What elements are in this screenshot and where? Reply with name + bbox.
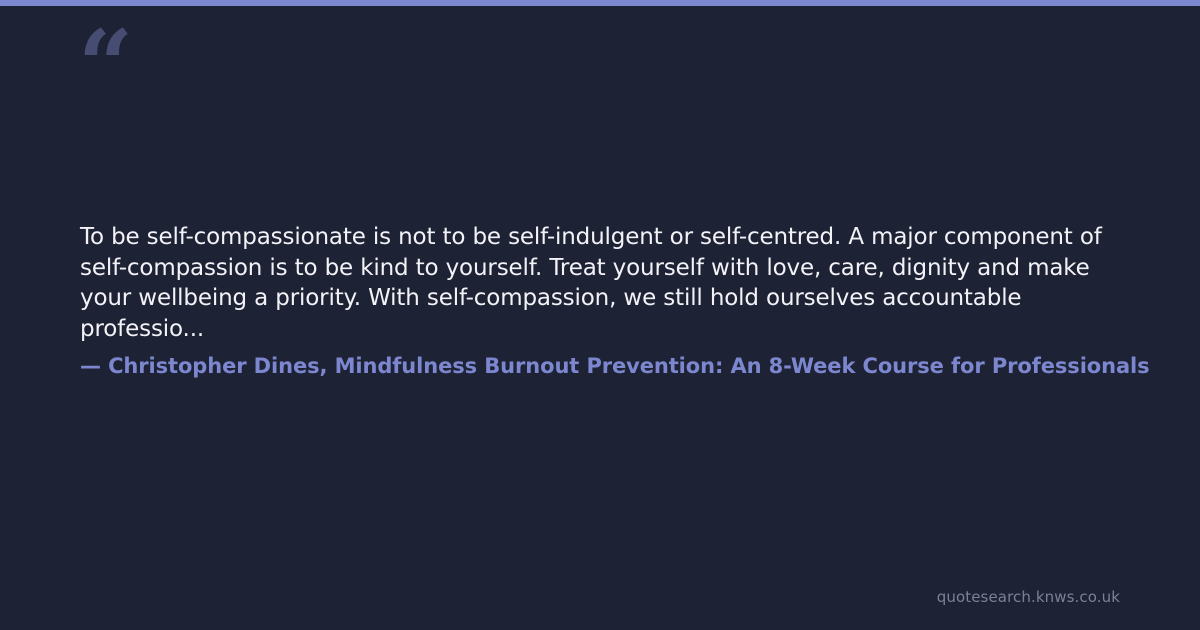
quote-content: To be self-compassionate is not to be se…	[80, 222, 1200, 344]
quote-attribution: — Christopher Dines, Mindfulness Burnout…	[80, 353, 1150, 380]
quotation-mark-icon: “	[78, 18, 131, 114]
quote-text: To be self-compassionate is not to be se…	[80, 222, 1110, 344]
footer-site-url: quotesearch.knws.co.uk	[937, 588, 1120, 606]
top-accent-bar	[0, 0, 1200, 6]
quote-card: “ To be self-compassionate is not to be …	[0, 0, 1200, 630]
